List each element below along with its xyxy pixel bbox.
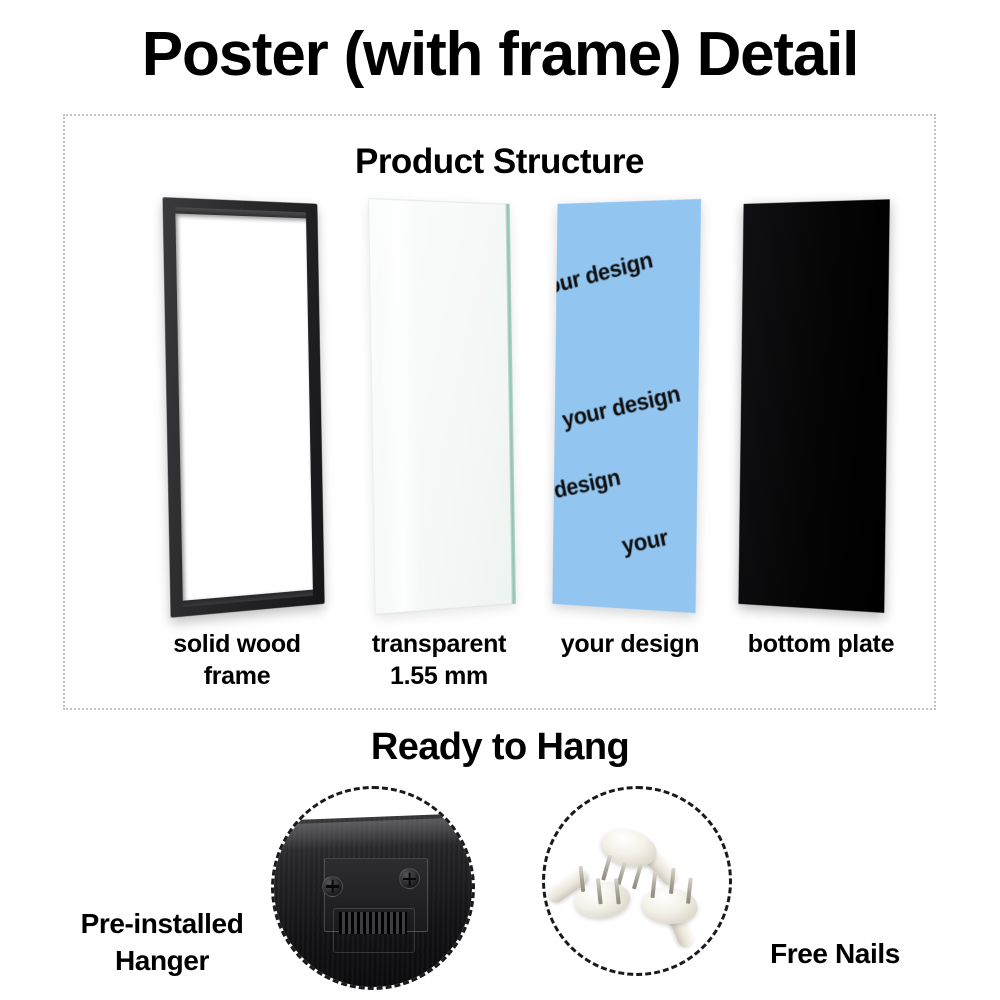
section-title-product-structure: Product Structure (65, 142, 934, 182)
nails-photo-circle (542, 786, 732, 976)
nails-illustration (545, 789, 729, 973)
plate-stage (741, 204, 893, 604)
page-title: Poster (with frame) Detail (0, 24, 1000, 86)
label-pre-installed-hanger: Pre-installed Hanger (40, 906, 284, 980)
hook-pin (632, 863, 643, 889)
design-watermark-text: esign (552, 295, 701, 378)
caption-line-1: your design (527, 628, 733, 660)
caption-line-2: 1.55 mm (333, 660, 545, 692)
plate-face (738, 199, 889, 613)
label-free-nails: Free Nails (712, 938, 958, 970)
design-watermark-text: your design (552, 363, 701, 442)
frame-inner-opening (175, 213, 313, 600)
caption-your-design: your design (527, 628, 733, 660)
design-watermark-text: r design (552, 199, 701, 249)
hook-pin (601, 855, 612, 881)
hanger-screw-right-icon (399, 868, 420, 889)
part-solid-wood-frame (153, 204, 321, 604)
design-watermark-text: ur design (552, 432, 701, 507)
part-transparent-glass (361, 204, 513, 604)
part-captions-row: solid wood frame transparent 1.55 mm you… (65, 628, 934, 718)
hanger-screw-left-icon (322, 876, 343, 897)
glass-sheen-highlight (378, 199, 422, 613)
label-line-1: Pre-installed (40, 906, 284, 943)
design-face: r designyour designesignyour designur de… (552, 199, 701, 613)
frame-3d-body (163, 197, 325, 618)
glass-stage (361, 204, 513, 604)
hanger-photo-circle (271, 786, 475, 990)
part-your-design-print: r designyour designesignyour designur de… (555, 204, 705, 604)
caption-bottom-plate: bottom plate (715, 628, 927, 660)
caption-line-1: transparent (333, 628, 545, 660)
caption-transparent-glass: transparent 1.55 mm (333, 628, 545, 692)
section-title-ready-to-hang: Ready to Hang (0, 726, 1000, 769)
hanger-sawtooth-teeth (339, 912, 406, 934)
product-structure-panel: Product Structure (63, 114, 936, 710)
plate-3d-body (738, 199, 889, 613)
part-bottom-plate (741, 204, 893, 604)
label-line-2: Hanger (40, 943, 284, 980)
caption-line-1: solid wood (121, 628, 353, 660)
design-watermark-text: your design (552, 227, 701, 313)
design-stage: r designyour designesignyour designur de… (555, 204, 705, 604)
design-watermark-rows: r designyour designesignyour designur de… (552, 199, 701, 613)
frame-stage (153, 204, 321, 604)
exploded-parts-row: r designyour designesignyour designur de… (65, 204, 934, 604)
design-3d-body: r designyour designesignyour designur de… (552, 199, 701, 613)
hanger-illustration (274, 789, 472, 987)
caption-line-1: bottom plate (715, 628, 927, 660)
caption-line-2: frame (121, 660, 353, 692)
design-watermark-text: your (552, 501, 701, 573)
glass-3d-body (368, 198, 516, 615)
caption-solid-wood-frame: solid wood frame (121, 628, 353, 692)
glass-face (368, 198, 516, 615)
